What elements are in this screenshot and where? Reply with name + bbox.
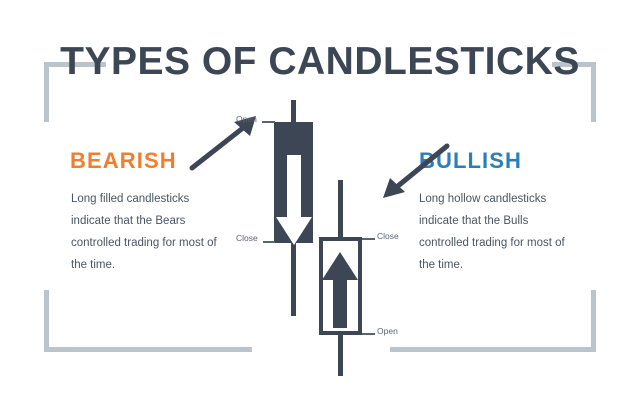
corner-bracket-bottom-left [44,290,252,352]
bullish-open-label: Open [377,326,398,336]
bearish-close-label: Close [236,233,258,243]
infographic-canvas: TYPES OF CANDLESTICKS BEARISH Long fille… [0,0,640,406]
bullish-upper-wick [338,180,343,240]
bearish-description: Long filled candlesticks indicate that t… [71,188,231,276]
bullish-close-label: Close [377,231,399,241]
bullish-up-arrow-icon [321,250,361,332]
bullish-close-leader-line [362,238,375,240]
bearish-close-leader-line [263,241,275,243]
bearish-down-arrow-icon [274,155,314,253]
bullish-pointer-arrow [377,140,453,202]
corner-bracket-bottom-right [390,290,596,352]
bearish-heading: BEARISH [70,148,177,174]
bullish-lower-wick [338,332,343,376]
page-title: TYPES OF CANDLESTICKS [0,40,640,84]
bullish-open-leader-line [362,333,375,335]
bearish-open-leader-line [262,121,275,123]
bearish-open-label: Open [236,114,257,124]
